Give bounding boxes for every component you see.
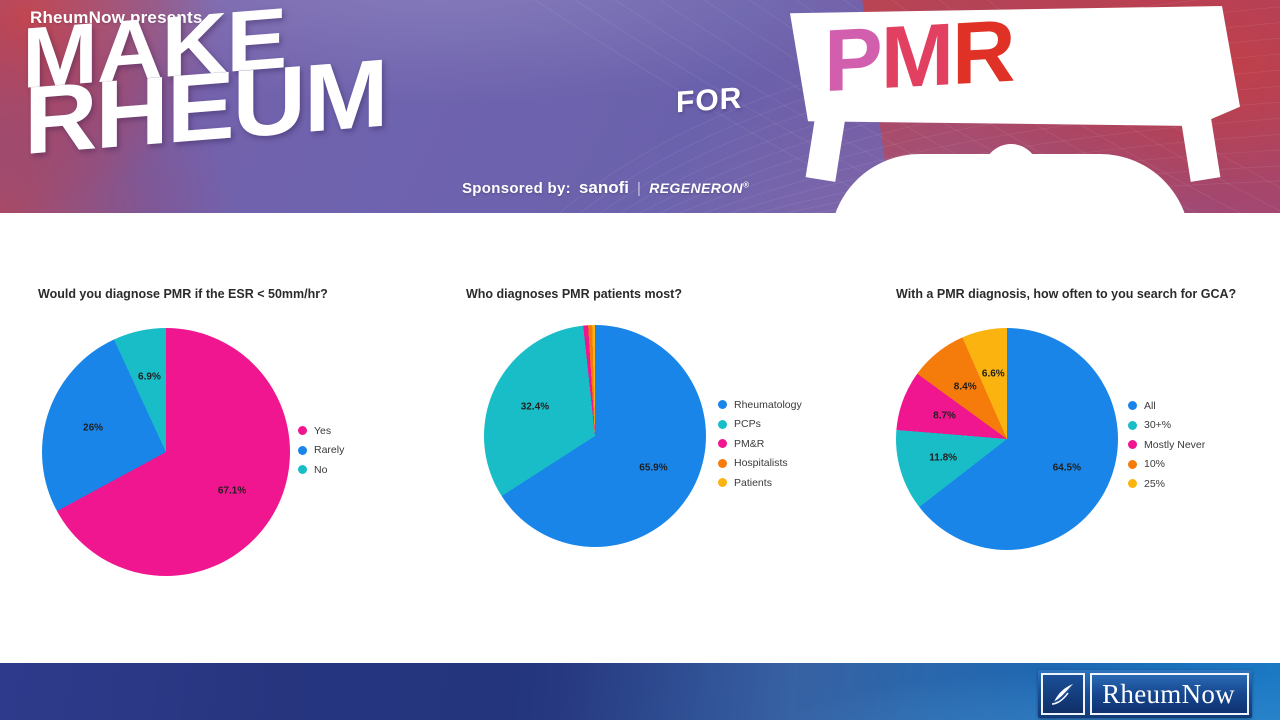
legend-item-label: 30+% [1144,419,1171,431]
legend-item[interactable]: Rarely [298,441,344,461]
legend-color-swatch-icon [718,400,727,409]
charts-area: Would you diagnose PMR if the ESR < 50mm… [0,213,1280,663]
legend-color-swatch-icon [718,420,727,429]
pie-slice-label: 6.9% [138,371,161,382]
legend-color-swatch-icon [298,465,307,474]
legend-item-label: 10% [1144,458,1165,470]
legend-item[interactable]: Yes [298,421,344,441]
pmr-badge: PMR [790,6,1240,126]
legend-item[interactable]: PCPs [718,415,802,435]
rheumnow-logo-text: RheumNow [1102,681,1235,708]
legend-item-label: Hospitalists [734,457,788,469]
chart-legend: YesRarelyNo [298,421,344,480]
legend-item[interactable]: Hospitalists [718,454,802,474]
chart-legend: All30+%Mostly Never10%25% [1128,396,1205,494]
pie-slice-label: 8.7% [933,410,956,421]
legend-item-label: All [1144,400,1156,412]
legend-item-label: 25% [1144,478,1165,490]
pie-container: 67.1%26%6.9% [42,328,290,576]
sponsor-line: Sponsored by: sanofi | REGENERON® [462,178,749,198]
chart-gca-search: With a PMR diagnosis, how often to you s… [896,213,1280,543]
pie-chart: 67.1%26%6.9% [42,328,290,576]
sponsor-sanofi-logo: sanofi [579,178,629,198]
rheumnow-logo-textbox: RheumNow [1090,673,1249,715]
legend-item[interactable]: Rheumatology [718,395,802,415]
legend-color-swatch-icon [1128,421,1137,430]
sponsor-divider: | [637,180,641,197]
legend-color-swatch-icon [298,446,307,455]
legend-color-swatch-icon [718,439,727,448]
pmr-letter-m: M [881,4,952,107]
legend-color-swatch-icon [1128,401,1137,410]
pmr-wordmark: PMR [824,7,1014,106]
pie-chart: 65.9%32.4% [484,325,706,547]
legend-item-label: No [314,464,327,476]
legend-item-label: PM&R [734,438,764,450]
sponsor-regeneron-logo: REGENERON® [649,180,749,196]
legend-item[interactable]: Patients [718,473,802,493]
chart-title: With a PMR diagnosis, how often to you s… [896,287,1236,301]
chart-who-diagnoses: Who diagnoses PMR patients most? 65.9%32… [466,213,866,543]
pie-slice-label: 11.8% [929,452,957,463]
legend-item[interactable]: Mostly Never [1128,435,1205,455]
pie-slice-label: 65.9% [639,462,667,473]
legend-color-swatch-icon [1128,479,1137,488]
legend-color-swatch-icon [718,478,727,487]
pmr-letter-r: R [952,1,1014,103]
legend-color-swatch-icon [718,459,727,468]
chart-legend: RheumatologyPCPsPM&RHospitalistsPatients [718,395,802,493]
legend-item-label: Mostly Never [1144,439,1205,451]
legend-item-label: Yes [314,425,331,437]
legend-item-label: Rheumatology [734,399,802,411]
pie-slice-label: 32.4% [521,402,549,413]
sponsor-regeneron-text: REGENERON [649,180,743,196]
rheumnow-logo[interactable]: RheumNow [1038,670,1252,718]
pie-slice-label: 6.6% [982,368,1005,379]
title-rheum: RHEUM [24,49,387,166]
pie-slice-label: 26% [83,422,103,433]
pie-container: 64.5%11.8%8.7%8.4%6.6% [896,328,1118,550]
chart-esr-diagnosis: Would you diagnose PMR if the ESR < 50mm… [38,213,438,543]
rheumnow-mark-icon [1041,673,1085,715]
title-for: FOR [676,82,742,121]
legend-item-label: PCPs [734,418,761,430]
person-body [830,154,1190,213]
legend-item-label: Rarely [314,444,344,456]
legend-item[interactable]: PM&R [718,434,802,454]
legend-color-swatch-icon [1128,440,1137,449]
pie-container: 65.9%32.4% [484,325,706,547]
chart-title: Who diagnoses PMR patients most? [466,287,682,301]
legend-item[interactable]: All [1128,396,1205,416]
footer-bar: RheumNow [0,663,1280,720]
pie-slice-label: 8.4% [954,382,977,393]
header-banner: RheumNow presents MAKE RHEUM FOR PMR Spo… [0,0,1280,213]
legend-item[interactable]: 30+% [1128,416,1205,436]
pmr-letter-p: P [824,8,881,110]
quill-icon [1050,681,1076,707]
legend-color-swatch-icon [1128,460,1137,469]
legend-item[interactable]: No [298,460,344,480]
pie-slice-label: 64.5% [1053,463,1081,474]
sponsored-by-label: Sponsored by: [462,180,571,197]
legend-item[interactable]: 25% [1128,474,1205,494]
slide-root: RheumNow presents MAKE RHEUM FOR PMR Spo… [0,0,1280,720]
pie-chart: 64.5%11.8%8.7%8.4%6.6% [896,328,1118,550]
pie-slice-label: 67.1% [218,486,246,497]
legend-item-label: Patients [734,477,772,489]
legend-item[interactable]: 10% [1128,455,1205,475]
legend-color-swatch-icon [298,426,307,435]
registered-mark-icon: ® [743,180,749,189]
chart-title: Would you diagnose PMR if the ESR < 50mm… [38,287,328,301]
